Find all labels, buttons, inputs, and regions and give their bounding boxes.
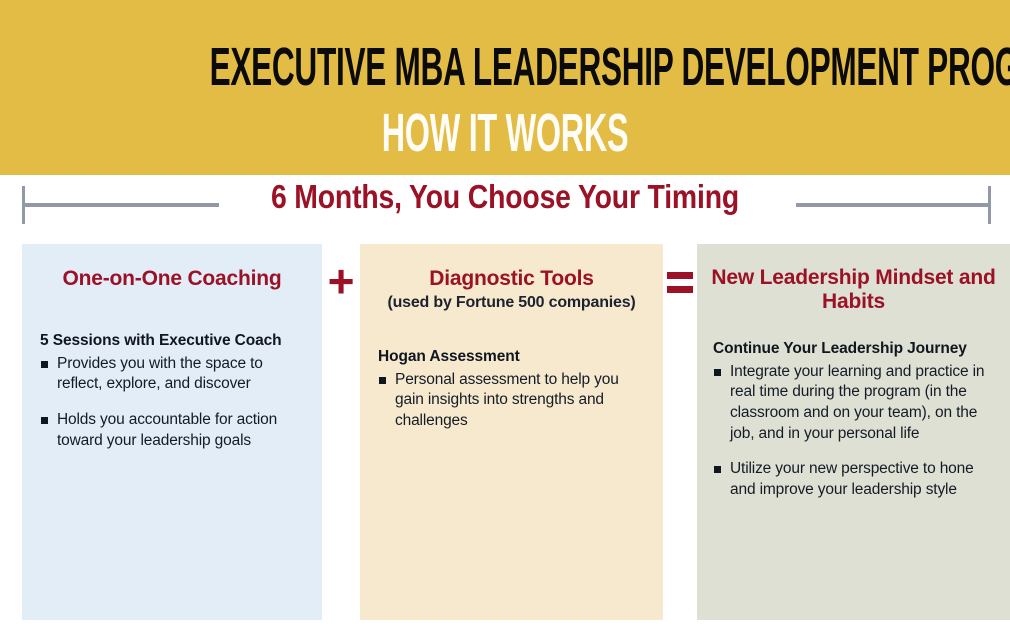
section-title-diagnostic: Hogan Assessment: [378, 348, 649, 367]
list-item-text: Utilize your new perspective to hone and…: [730, 460, 974, 498]
timing-banner: 6 Months, You Choose Your Timing: [0, 178, 1010, 240]
timing-rule-cap-right: [988, 186, 991, 224]
panel-diagnostic-tools: Diagnostic Tools (used by Fortune 500 co…: [360, 244, 663, 620]
panel-body-coaching: 5 Sessions with Executive Coach Provides…: [22, 332, 322, 451]
bullet-square-icon: [41, 417, 48, 424]
equals-bar-bottom: [667, 286, 693, 293]
list-item: Holds you accountable for action toward …: [40, 410, 308, 451]
bullet-square-icon: [41, 361, 48, 368]
bullet-square-icon: [379, 377, 386, 384]
timing-rule-right: [796, 203, 990, 207]
bullet-list-diagnostic: Personal assessment to help you gain ins…: [378, 370, 649, 432]
timing-label: 6 Months, You Choose Your Timing: [71, 178, 940, 216]
list-item: Integrate your learning and practice in …: [713, 362, 998, 444]
list-item-text: Provides you with the space to reflect, …: [57, 355, 263, 393]
panel-body-diagnostic: Hogan Assessment Personal assessment to …: [360, 348, 663, 431]
panel-body-mindset: Continue Your Leadership Journey Integra…: [697, 340, 1010, 500]
list-item-text: Personal assessment to help you gain ins…: [395, 371, 619, 429]
panel-heading-mindset: New Leadership Mindset and Habits: [697, 266, 1010, 314]
list-item: Utilize your new perspective to hone and…: [713, 459, 998, 500]
section-title-mindset: Continue Your Leadership Journey: [713, 340, 998, 359]
panel-heading-diagnostic: Diagnostic Tools: [360, 267, 663, 291]
list-item: Provides you with the space to reflect, …: [40, 354, 308, 395]
page-title: EXECUTIVE MBA LEADERSHIP DEVELOPMENT PRO…: [210, 40, 801, 94]
panel-new-leadership-mindset: New Leadership Mindset and Habits Contin…: [697, 244, 1010, 620]
bullet-list-coaching: Provides you with the space to reflect, …: [40, 354, 308, 451]
bullet-square-icon: [714, 369, 721, 376]
list-item-text: Integrate your learning and practice in …: [730, 363, 984, 442]
list-item-text: Holds you accountable for action toward …: [57, 411, 277, 449]
plus-operator-icon: +: [322, 258, 360, 304]
page-subtitle: HOW IT WORKS: [202, 106, 808, 160]
panel-one-on-one-coaching: One-on-One Coaching 5 Sessions with Exec…: [22, 244, 322, 620]
section-title-coaching: 5 Sessions with Executive Coach: [40, 332, 308, 351]
panel-heading-coaching: One-on-One Coaching: [22, 267, 322, 291]
bullet-square-icon: [714, 466, 721, 473]
equals-operator-icon: [663, 272, 697, 300]
equals-bar-top: [667, 272, 693, 279]
panel-subheading-diagnostic: (used by Fortune 500 companies): [360, 294, 663, 312]
list-item: Personal assessment to help you gain ins…: [378, 370, 649, 432]
bullet-list-mindset: Integrate your learning and practice in …: [713, 362, 998, 501]
header-band: EXECUTIVE MBA LEADERSHIP DEVELOPMENT PRO…: [0, 0, 1010, 175]
